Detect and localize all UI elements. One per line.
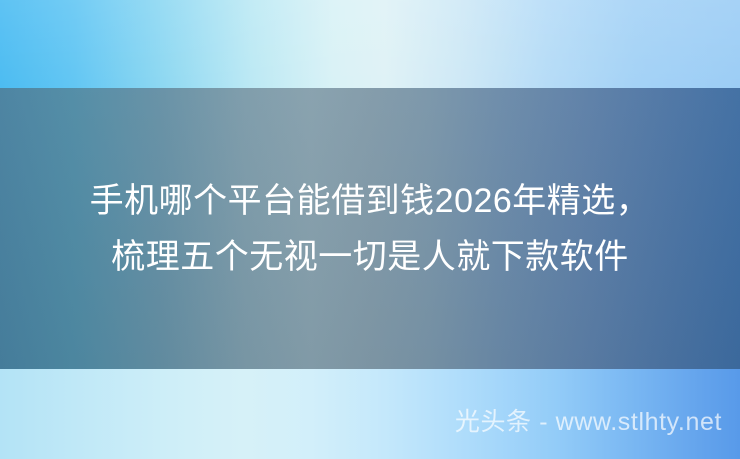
top-gradient-band xyxy=(0,0,740,88)
headline-line-2: 梳理五个无视一切是人就下款软件 xyxy=(111,229,629,285)
site-watermark: 光头条 - www.stlhty.net xyxy=(455,405,722,439)
headline-block: 手机哪个平台能借到钱2026年精选， 梳理五个无视一切是人就下款软件 xyxy=(0,88,740,369)
poster-image: 手机哪个平台能借到钱2026年精选， 梳理五个无视一切是人就下款软件 光头条 -… xyxy=(0,0,740,459)
headline-line-1: 手机哪个平台能借到钱2026年精选， xyxy=(90,173,651,229)
